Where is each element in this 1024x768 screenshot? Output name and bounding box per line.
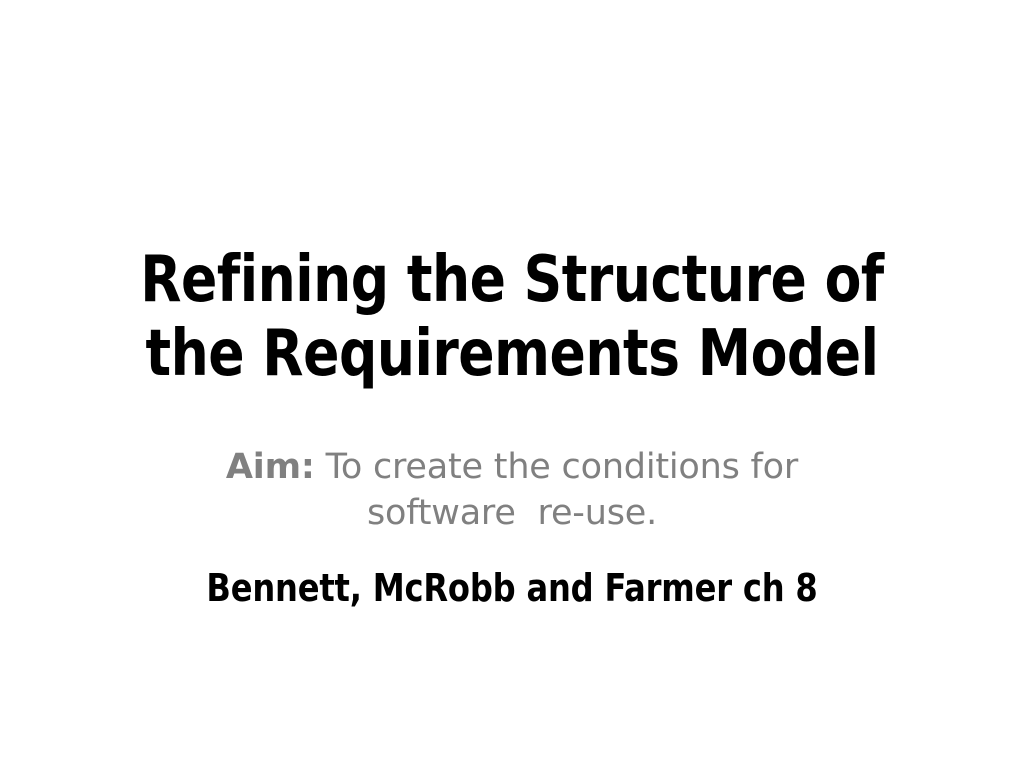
subtitle-placeholder: Aim: To create the conditions for softwa… bbox=[0, 445, 1024, 536]
title-slide: Refining the Structure of the Requiremen… bbox=[0, 0, 1024, 768]
attribution-text: Bennett, McRobb and Farmer ch 8 bbox=[31, 566, 994, 612]
subtitle-text: Aim: To create the conditions for softwa… bbox=[0, 445, 1024, 536]
page-title: Refining the Structure of the Requiremen… bbox=[36, 243, 988, 391]
subtitle-lead-label: Aim: bbox=[226, 447, 315, 487]
subtitle-body-text: To create the conditions for software re… bbox=[315, 447, 809, 533]
attribution-placeholder: Bennett, McRobb and Farmer ch 8 bbox=[0, 566, 1024, 612]
title-placeholder: Refining the Structure of the Requiremen… bbox=[0, 243, 1024, 391]
